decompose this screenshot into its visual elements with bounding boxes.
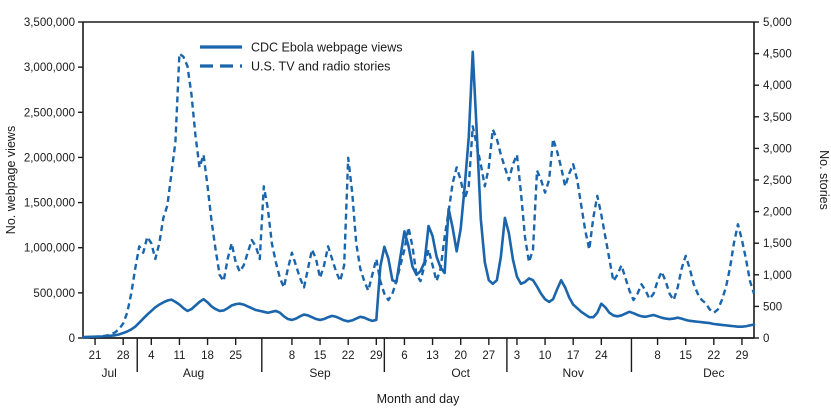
x-tick-label: 11 bbox=[173, 350, 185, 362]
y2-tick-label: 2,500 bbox=[763, 175, 792, 187]
x-axis-title: Month and day bbox=[377, 392, 460, 406]
x-tick-label: 8 bbox=[289, 350, 295, 362]
legend-label-1: CDC Ebola webpage views bbox=[251, 41, 402, 55]
x-tick-label: 28 bbox=[117, 350, 130, 362]
y2-tick-label: 0 bbox=[763, 333, 769, 345]
month-label: Aug bbox=[183, 366, 204, 380]
chart-legend: CDC Ebola webpage viewsU.S. TV and radio… bbox=[200, 41, 402, 74]
x-tick-label: 22 bbox=[342, 350, 355, 362]
legend-label-2: U.S. TV and radio stories bbox=[251, 60, 390, 74]
x-axis: 212841118258152229613202731017248152229J… bbox=[83, 338, 754, 380]
y-tick-label: 0 bbox=[69, 333, 75, 345]
month-label: Dec bbox=[703, 366, 724, 380]
y-tick-label: 2,000,000 bbox=[24, 152, 75, 164]
plot-frame bbox=[83, 22, 754, 338]
x-tick-label: 22 bbox=[707, 350, 720, 362]
x-tick-label: 24 bbox=[595, 350, 608, 362]
y2-tick-label: 4,500 bbox=[763, 49, 792, 61]
y2-tick-label: 3,500 bbox=[763, 112, 792, 124]
x-tick-label: 3 bbox=[514, 350, 520, 362]
month-label: Oct bbox=[451, 366, 470, 380]
y-tick-label: 2,500,000 bbox=[24, 107, 75, 119]
y2-axis-title: No. stories bbox=[817, 150, 831, 210]
y-tick-label: 1,000,000 bbox=[24, 243, 75, 255]
y2-tick-label: 1,500 bbox=[763, 238, 792, 250]
x-tick-label: 21 bbox=[89, 350, 102, 362]
month-label: Nov bbox=[563, 366, 584, 380]
y-tick-label: 500,000 bbox=[33, 288, 75, 300]
chart-canvas: No. webpage views No. stories Month and … bbox=[0, 0, 831, 412]
month-label: Sep bbox=[309, 366, 331, 380]
x-tick-label: 8 bbox=[654, 350, 660, 362]
x-tick-label: 15 bbox=[679, 350, 692, 362]
x-tick-label: 25 bbox=[229, 350, 242, 362]
x-tick-label: 15 bbox=[314, 350, 327, 362]
left-axis: 0500,0001,000,0001,500,0002,000,0002,500… bbox=[24, 17, 83, 345]
y2-tick-label: 4,000 bbox=[763, 80, 792, 92]
right-axis: 05001,0001,5002,0002,5003,0003,5004,0004… bbox=[754, 17, 792, 345]
data-series-group bbox=[83, 52, 754, 338]
x-tick-label: 20 bbox=[454, 350, 467, 362]
x-tick-label: 18 bbox=[201, 350, 214, 362]
x-tick-label: 27 bbox=[482, 350, 495, 362]
x-tick-label: 13 bbox=[426, 350, 439, 362]
y2-tick-label: 500 bbox=[763, 301, 782, 313]
y-tick-label: 3,500,000 bbox=[24, 17, 75, 29]
y-tick-label: 3,000,000 bbox=[24, 62, 75, 74]
y2-tick-label: 5,000 bbox=[763, 17, 792, 29]
x-tick-label: 6 bbox=[401, 350, 407, 362]
month-label: Jul bbox=[101, 366, 116, 380]
x-tick-label: 29 bbox=[370, 350, 383, 362]
y2-tick-label: 3,000 bbox=[763, 143, 792, 155]
y-tick-label: 1,500,000 bbox=[24, 198, 75, 210]
x-tick-label: 17 bbox=[567, 350, 580, 362]
x-tick-label: 29 bbox=[736, 350, 749, 362]
x-tick-label: 10 bbox=[539, 350, 552, 362]
y2-tick-label: 1,000 bbox=[763, 270, 792, 282]
ebola-timeline-chart: No. webpage views No. stories Month and … bbox=[0, 0, 831, 412]
y-axis-title: No. webpage views bbox=[4, 126, 18, 234]
y2-tick-label: 2,000 bbox=[763, 207, 792, 219]
series-path-2 bbox=[83, 54, 754, 338]
x-tick-label: 4 bbox=[148, 350, 155, 362]
